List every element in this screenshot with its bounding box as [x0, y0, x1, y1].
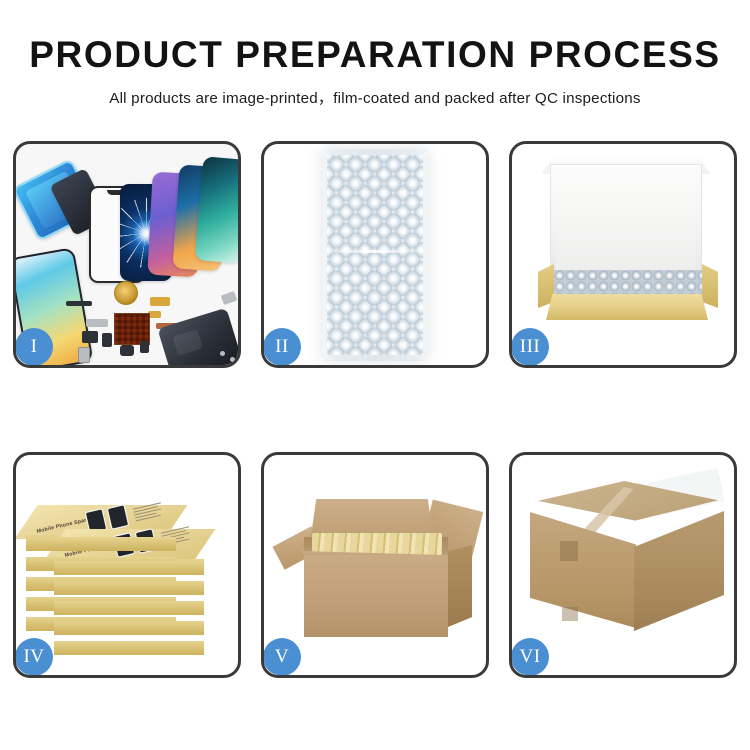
step-badge-6: VI — [511, 638, 549, 676]
step-2-illustration — [264, 144, 486, 365]
box-side-face — [54, 581, 204, 595]
kraft-box-stack-icon: Mobile Phone Spare Parts Mobile Phone Sp… — [24, 475, 236, 665]
bubble-pattern — [327, 155, 423, 355]
product-preparation-process-page: PRODUCT PREPARATION PROCESS All products… — [0, 0, 750, 750]
step-panel-4[interactable]: Mobile Phone Spare Parts Mobile Phone Sp… — [13, 452, 241, 678]
sealed-shipping-carton-icon — [530, 481, 726, 655]
vibration-motor-icon — [114, 281, 138, 305]
step-1-illustration — [16, 144, 238, 365]
pouch-seam — [326, 250, 424, 253]
step-panel-2[interactable]: II — [261, 141, 489, 368]
metal-bracket-icon — [86, 319, 108, 327]
box-right-flap — [702, 264, 718, 308]
step-5-illustration — [264, 455, 486, 675]
box-side-face — [54, 621, 204, 635]
carton-hand-hole — [562, 607, 578, 621]
carton-hand-hole — [560, 541, 578, 561]
spare-parts-group — [72, 289, 238, 365]
step-badge-1: I — [15, 328, 53, 366]
box-side-face — [26, 537, 176, 551]
screw-icon — [220, 351, 225, 356]
step-panel-1[interactable]: I — [13, 141, 241, 368]
box-side-face — [54, 641, 204, 655]
bubble-wrapped-contents-icon — [554, 270, 702, 298]
sim-tray-icon — [78, 347, 90, 363]
flex-cable-gold-icon — [150, 297, 170, 306]
open-shipping-carton-icon — [282, 493, 476, 647]
step-panel-3[interactable]: III — [509, 141, 737, 368]
carton-right-face — [634, 511, 724, 631]
taptic-engine-icon — [102, 333, 112, 347]
step-badge-2: II — [263, 328, 301, 366]
step-6-illustration — [512, 455, 734, 675]
step-panel-6[interactable]: VI — [509, 452, 737, 678]
phone-back-housing-icon — [157, 308, 238, 365]
box-side-face — [54, 561, 204, 575]
page-subtitle: All products are image-printed，film-coat… — [0, 86, 750, 108]
step-badge-5: V — [263, 638, 301, 676]
carton-left-face — [530, 512, 636, 628]
page-title: PRODUCT PREPARATION PROCESS — [0, 36, 750, 75]
carton-side-face — [448, 545, 472, 627]
box-kraft-front-panel — [546, 294, 708, 320]
battery-connector-icon — [140, 341, 149, 353]
box-side-face — [54, 601, 204, 615]
page-header: PRODUCT PREPARATION PROCESS All products… — [0, 0, 750, 108]
step-panel-5[interactable]: V — [261, 452, 489, 678]
earpiece-speaker-icon — [66, 301, 92, 306]
screwdriver-tip-icon — [221, 291, 238, 305]
screw-icon — [230, 357, 235, 362]
process-steps-grid: I II III — [13, 141, 737, 678]
bubble-wrap-pouch-icon — [323, 149, 427, 361]
carton-front-face — [304, 555, 448, 637]
step-badge-3: III — [511, 328, 549, 366]
speaker-module-icon — [120, 345, 134, 356]
step-3-illustration — [512, 144, 734, 365]
step-badge-4: IV — [15, 638, 53, 676]
step-4-illustration: Mobile Phone Spare Parts Mobile Phone Sp… — [16, 455, 238, 675]
camera-module-icon — [82, 331, 98, 343]
foam-sheet-icon — [556, 178, 696, 270]
